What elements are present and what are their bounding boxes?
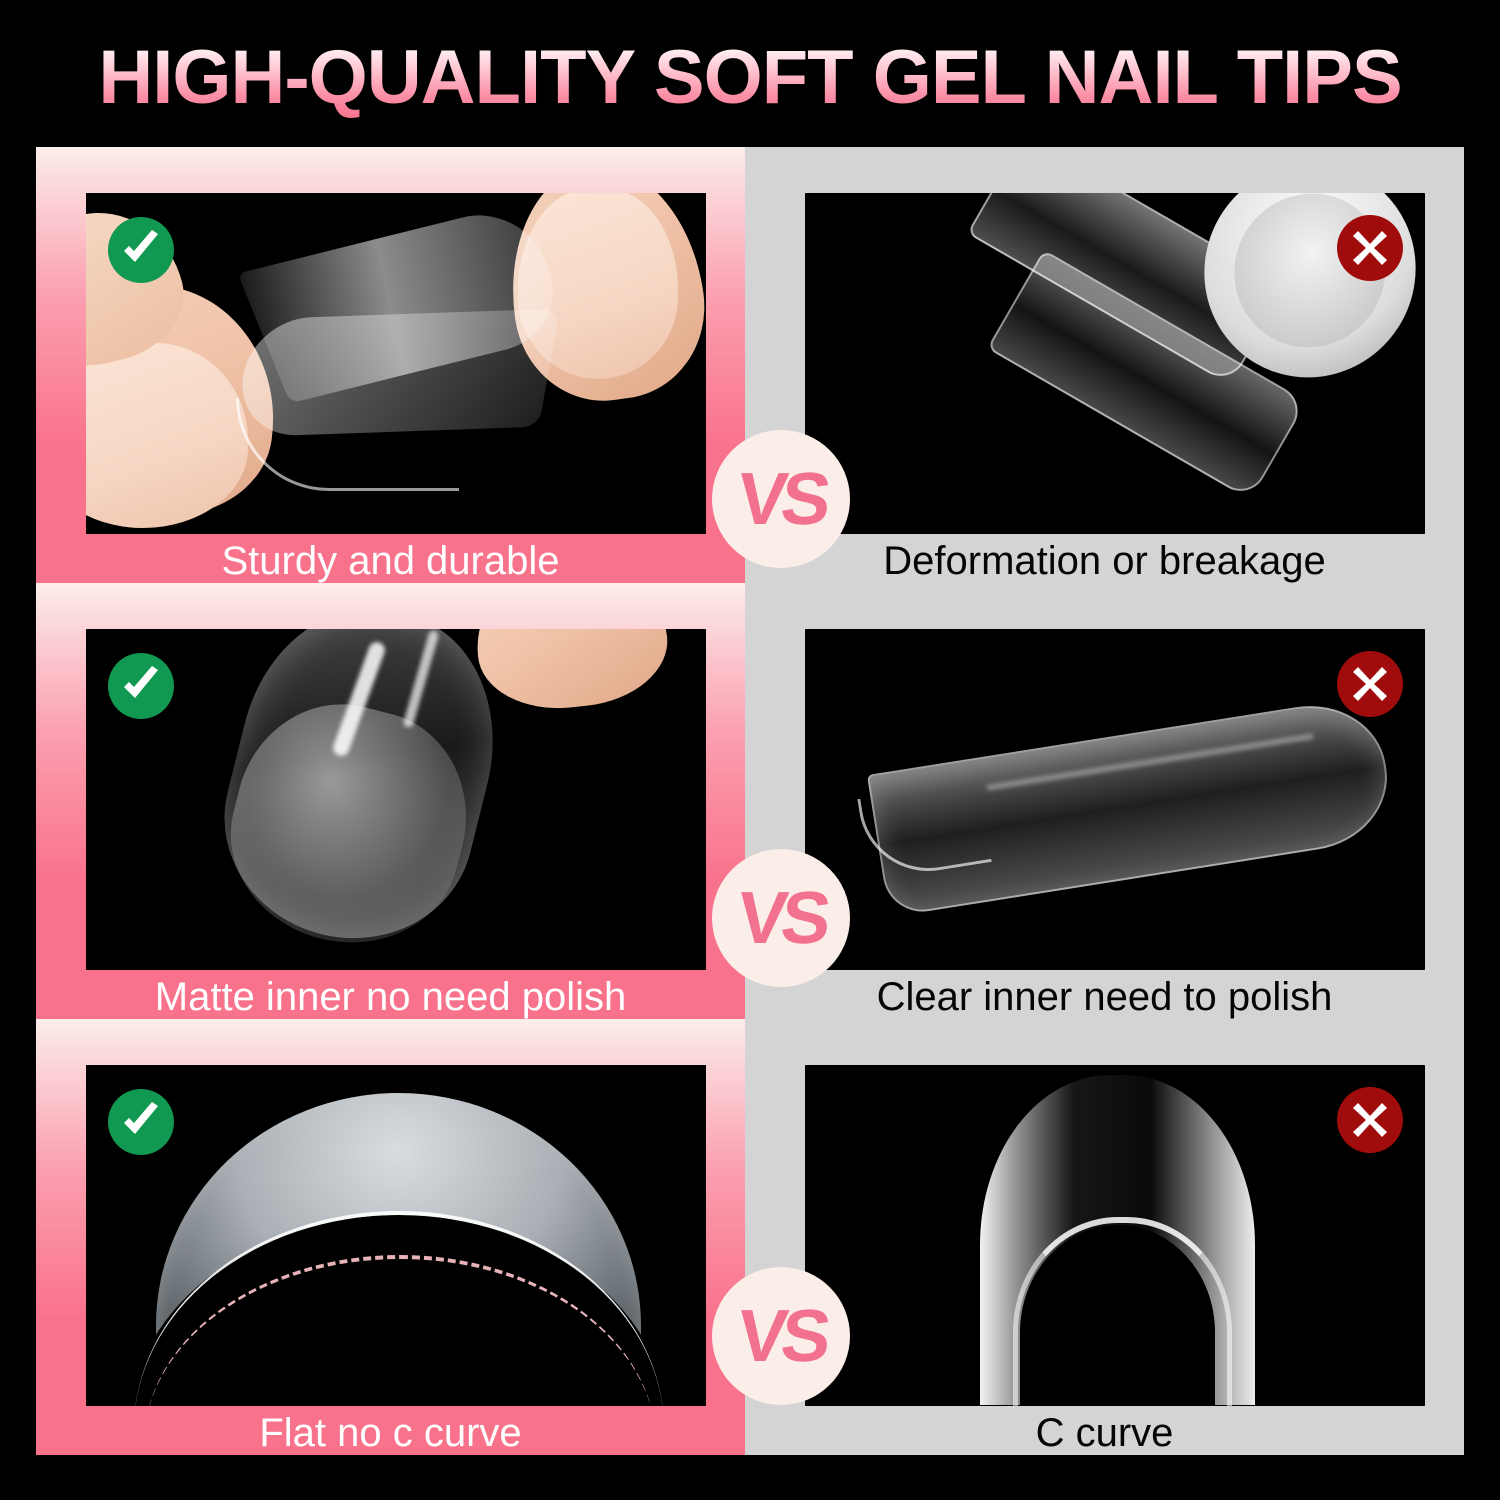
good-cell-sturdy: Sturdy and durable <box>36 147 745 583</box>
cross-icon <box>1337 1087 1403 1153</box>
photo-deformation-or-breakage <box>805 193 1425 534</box>
comparison-board: Sturdy and durable <box>36 147 1464 1455</box>
photo-flat-no-c-curve <box>86 1065 706 1406</box>
photo-clear-inner-need-polish <box>805 629 1425 970</box>
photo-sturdy-and-durable <box>86 193 706 534</box>
caption-deformation: Deformation or breakage <box>745 539 1464 583</box>
cross-icon <box>1337 215 1403 281</box>
caption-flat: Flat no c curve <box>36 1411 745 1455</box>
good-cell-flat: Flat no c curve <box>36 1019 745 1455</box>
caption-c-curve: C curve <box>745 1411 1464 1455</box>
bad-cell-clear-inner: Clear inner need to polish <box>745 583 1464 1019</box>
check-icon <box>108 217 174 283</box>
good-cell-matte: Matte inner no need polish <box>36 583 745 1019</box>
vs-badge-row2: VS <box>712 849 850 987</box>
caption-sturdy: Sturdy and durable <box>36 539 745 583</box>
cross-icon <box>1337 651 1403 717</box>
vs-label: VS <box>734 881 828 955</box>
check-icon <box>108 1089 174 1155</box>
vs-label: VS <box>734 1299 828 1373</box>
caption-clear-inner: Clear inner need to polish <box>745 975 1464 1019</box>
check-icon <box>108 653 174 719</box>
good-column: Sturdy and durable <box>36 147 745 1455</box>
bad-cell-deformation: Deformation or breakage <box>745 147 1464 583</box>
page-title: HIGH-QUALITY SOFT GEL NAIL TIPS <box>0 34 1500 122</box>
vs-badge-row1: VS <box>712 430 850 568</box>
infographic-poster: HIGH-QUALITY SOFT GEL NAIL TIPS <box>0 0 1500 1500</box>
bad-column: Deformation or breakage Clear inner need… <box>745 147 1464 1455</box>
photo-c-curve <box>805 1065 1425 1406</box>
caption-matte: Matte inner no need polish <box>36 975 745 1019</box>
bad-cell-c-curve: C curve <box>745 1019 1464 1455</box>
vs-label: VS <box>734 462 828 536</box>
vs-badge-row3: VS <box>712 1267 850 1405</box>
photo-matte-inner <box>86 629 706 970</box>
